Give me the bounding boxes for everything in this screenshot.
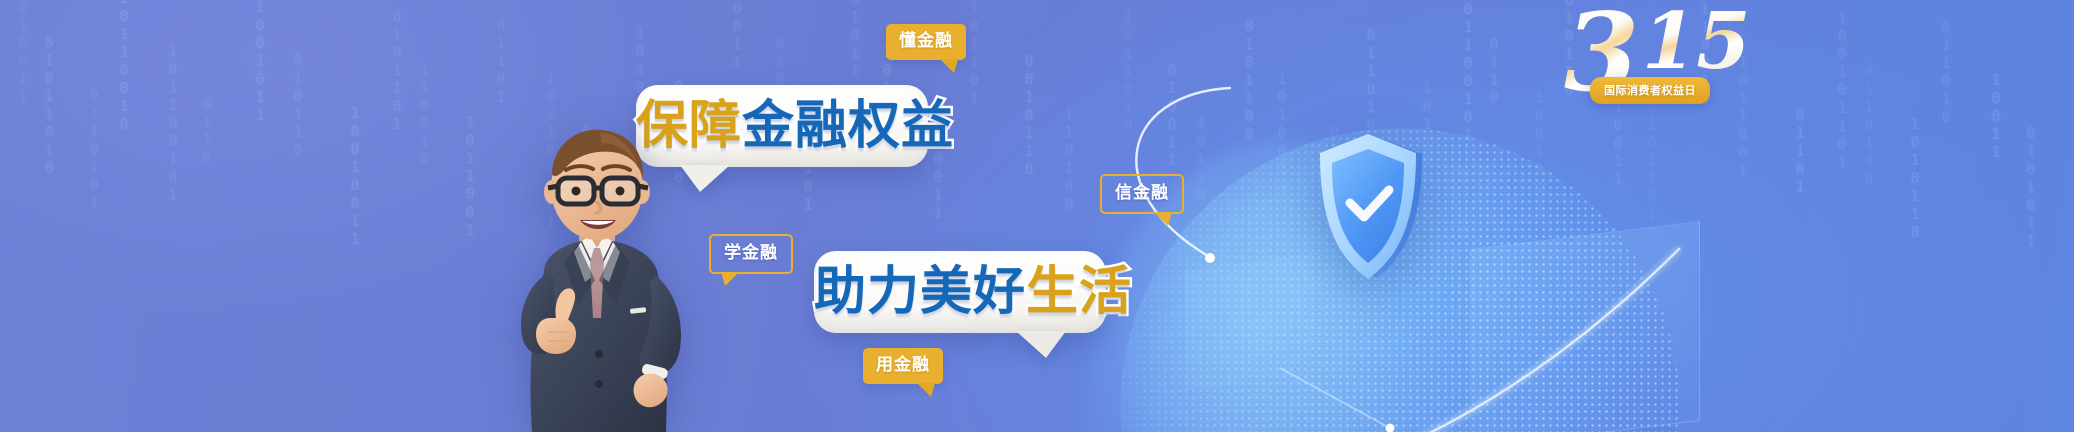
- binary-code-column: 10011: [728, 0, 745, 71]
- binary-code-column: 1010011: [1273, 70, 1290, 196]
- headline-secondary-gold: 生活: [1026, 262, 1132, 322]
- binary-code-column: 1011010: [1119, 8, 1136, 134]
- binary-code-column: 1011001: [1734, 53, 1751, 179]
- binary-code-column: 10010011: [1609, 44, 1626, 188]
- headline-secondary-blue: 助力美好: [814, 262, 1026, 322]
- bubble-tail-primary: [680, 165, 730, 192]
- keyword-tag-dong-tail: [940, 59, 958, 73]
- headline-bubble-primary: 保障金融权益: [636, 85, 928, 167]
- binary-code-column: 101100101: [164, 42, 181, 204]
- binary-code-column: 1010011: [14, 0, 31, 106]
- keyword-tag-xin-jinrong[interactable]: 信金融: [1100, 174, 1184, 214]
- keyword-tag-xue-tail: [721, 272, 739, 286]
- keyword-tag-yong-tail: [917, 383, 935, 397]
- keyword-tag-yong-jinrong[interactable]: 用金融: [863, 348, 943, 384]
- binary-code-column: 0010110: [1020, 52, 1037, 178]
- binary-code-column: 100101101: [542, 69, 559, 231]
- binary-code-column: 0110100: [1860, 62, 1877, 188]
- binary-code-column: 1001011: [251, 0, 268, 124]
- keyword-tag-xin-label: 信金融: [1115, 183, 1169, 203]
- keyword-tag-dong-label: 懂金融: [899, 31, 953, 51]
- binary-code-column: 101101: [965, 0, 982, 107]
- headline-primary-blue: 金融权益: [742, 96, 954, 156]
- keyword-tag-xue-label: 学金融: [724, 243, 778, 263]
- binary-code-column: 0101100: [1240, 17, 1257, 143]
- binary-code-column: 01011010: [40, 33, 57, 177]
- binary-code-column: 0110100: [577, 122, 594, 248]
- bubble-tail-secondary: [1016, 331, 1066, 358]
- binary-code-column: 01011: [846, 0, 863, 80]
- promo-banner: 1010011010110100110101101100101011001010…: [0, 0, 2074, 432]
- binary-code-column: 011010: [1937, 18, 1954, 126]
- headline-secondary: 助力美好生活: [814, 266, 1106, 318]
- binary-code-column: 010011: [1163, 61, 1180, 169]
- binary-code-column: 0101101: [388, 7, 405, 133]
- binary-code-column: 0110101: [85, 86, 102, 212]
- binary-code-background: 1010011010110100110101101100101011001010…: [0, 0, 2074, 432]
- headline-primary: 保障金融权益: [636, 100, 928, 152]
- binary-code-column: 10010011: [346, 104, 363, 248]
- shield-check-icon: [1310, 132, 1430, 282]
- binary-code-column: 101100101: [1459, 0, 1476, 144]
- binary-code-column: 1010110: [1906, 115, 1923, 241]
- keyword-tag-xue-jinrong[interactable]: 学金融: [709, 234, 793, 274]
- binary-code-column: 01101: [492, 16, 509, 106]
- keyword-tag-dong-jinrong[interactable]: 懂金融: [886, 24, 966, 60]
- binary-code-column: 110010: [415, 60, 432, 168]
- glass-panel-left: [1185, 253, 1315, 391]
- binary-code-column: 100101101: [1833, 9, 1850, 171]
- binary-code-column: 1011001: [461, 113, 478, 239]
- binary-code-column: 010110: [289, 51, 306, 159]
- binary-code-column: 10110: [1192, 114, 1209, 204]
- binary-code-column: 0101011: [2022, 124, 2039, 250]
- binary-code-column: 10011: [1987, 71, 2004, 161]
- businessman-thumbs-up-illustration: [482, 122, 712, 432]
- keyword-tag-xin-tail: [1154, 212, 1172, 226]
- binary-code-column: 0101101: [1643, 97, 1660, 223]
- headline-primary-gold: 保障: [636, 96, 742, 156]
- binary-code-column: 110100: [1060, 105, 1077, 213]
- binary-code-column: 0110: [1485, 35, 1502, 107]
- binary-code-column: 10110010: [115, 0, 132, 133]
- logo-digit-15: 15: [1642, 0, 1751, 87]
- glass-panel-right: [1470, 221, 1700, 432]
- binary-code-column: 1001011: [1530, 88, 1547, 214]
- keyword-tag-yong-label: 用金融: [876, 355, 930, 375]
- logo-subtitle-pill: 国际消费者权益日: [1590, 77, 1710, 104]
- binary-code-column: 0110: [198, 95, 215, 167]
- headline-bubble-secondary: 助力美好生活: [814, 251, 1106, 333]
- binary-code-column: 010110: [1560, 0, 1577, 99]
- binary-code-column: 01101: [1791, 106, 1808, 196]
